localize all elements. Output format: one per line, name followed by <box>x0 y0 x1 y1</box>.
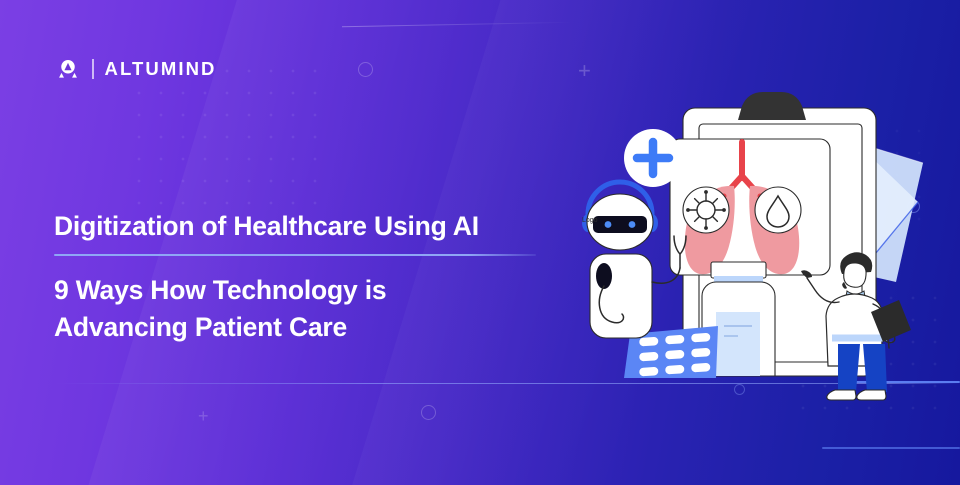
robot-assistant-icon: Logo <box>582 182 658 338</box>
dot-grid-left <box>128 60 318 230</box>
plus-decoration-icon-2: + <box>198 407 209 425</box>
water-drop-icon <box>755 187 801 233</box>
virus-icon <box>683 187 729 233</box>
title-divider <box>54 254 536 256</box>
circle-outline-icon-1 <box>358 62 373 77</box>
blog-banner: + + ALTUMIND Digitization of Healthcare … <box>0 0 960 485</box>
page-title: Digitization of Healthcare Using AI <box>54 211 574 243</box>
subtitle-line-2: Advancing Patient Care <box>54 312 347 342</box>
logo-divider-icon <box>92 59 94 79</box>
brand-logo[interactable]: ALTUMIND <box>55 56 217 82</box>
circle-outline-icon-2 <box>421 405 436 420</box>
hairline-top <box>342 22 572 27</box>
hero-illustration-svg: Logo <box>566 86 960 402</box>
brand-name: ALTUMIND <box>105 58 217 80</box>
robot-badge-label: Logo <box>582 217 598 224</box>
page-subtitle: 9 Ways How Technology is Advancing Patie… <box>54 272 484 347</box>
plus-decoration-icon-1: + <box>578 60 591 82</box>
subtitle-line-1: 9 Ways How Technology is <box>54 275 386 305</box>
medical-plus-badge-icon <box>624 129 682 187</box>
accent-line-right-bottom <box>822 447 960 449</box>
hero-illustration: Logo <box>566 86 960 402</box>
altumind-mark-icon <box>55 56 81 82</box>
headline-block: Digitization of Healthcare Using AI 9 Wa… <box>54 211 574 347</box>
